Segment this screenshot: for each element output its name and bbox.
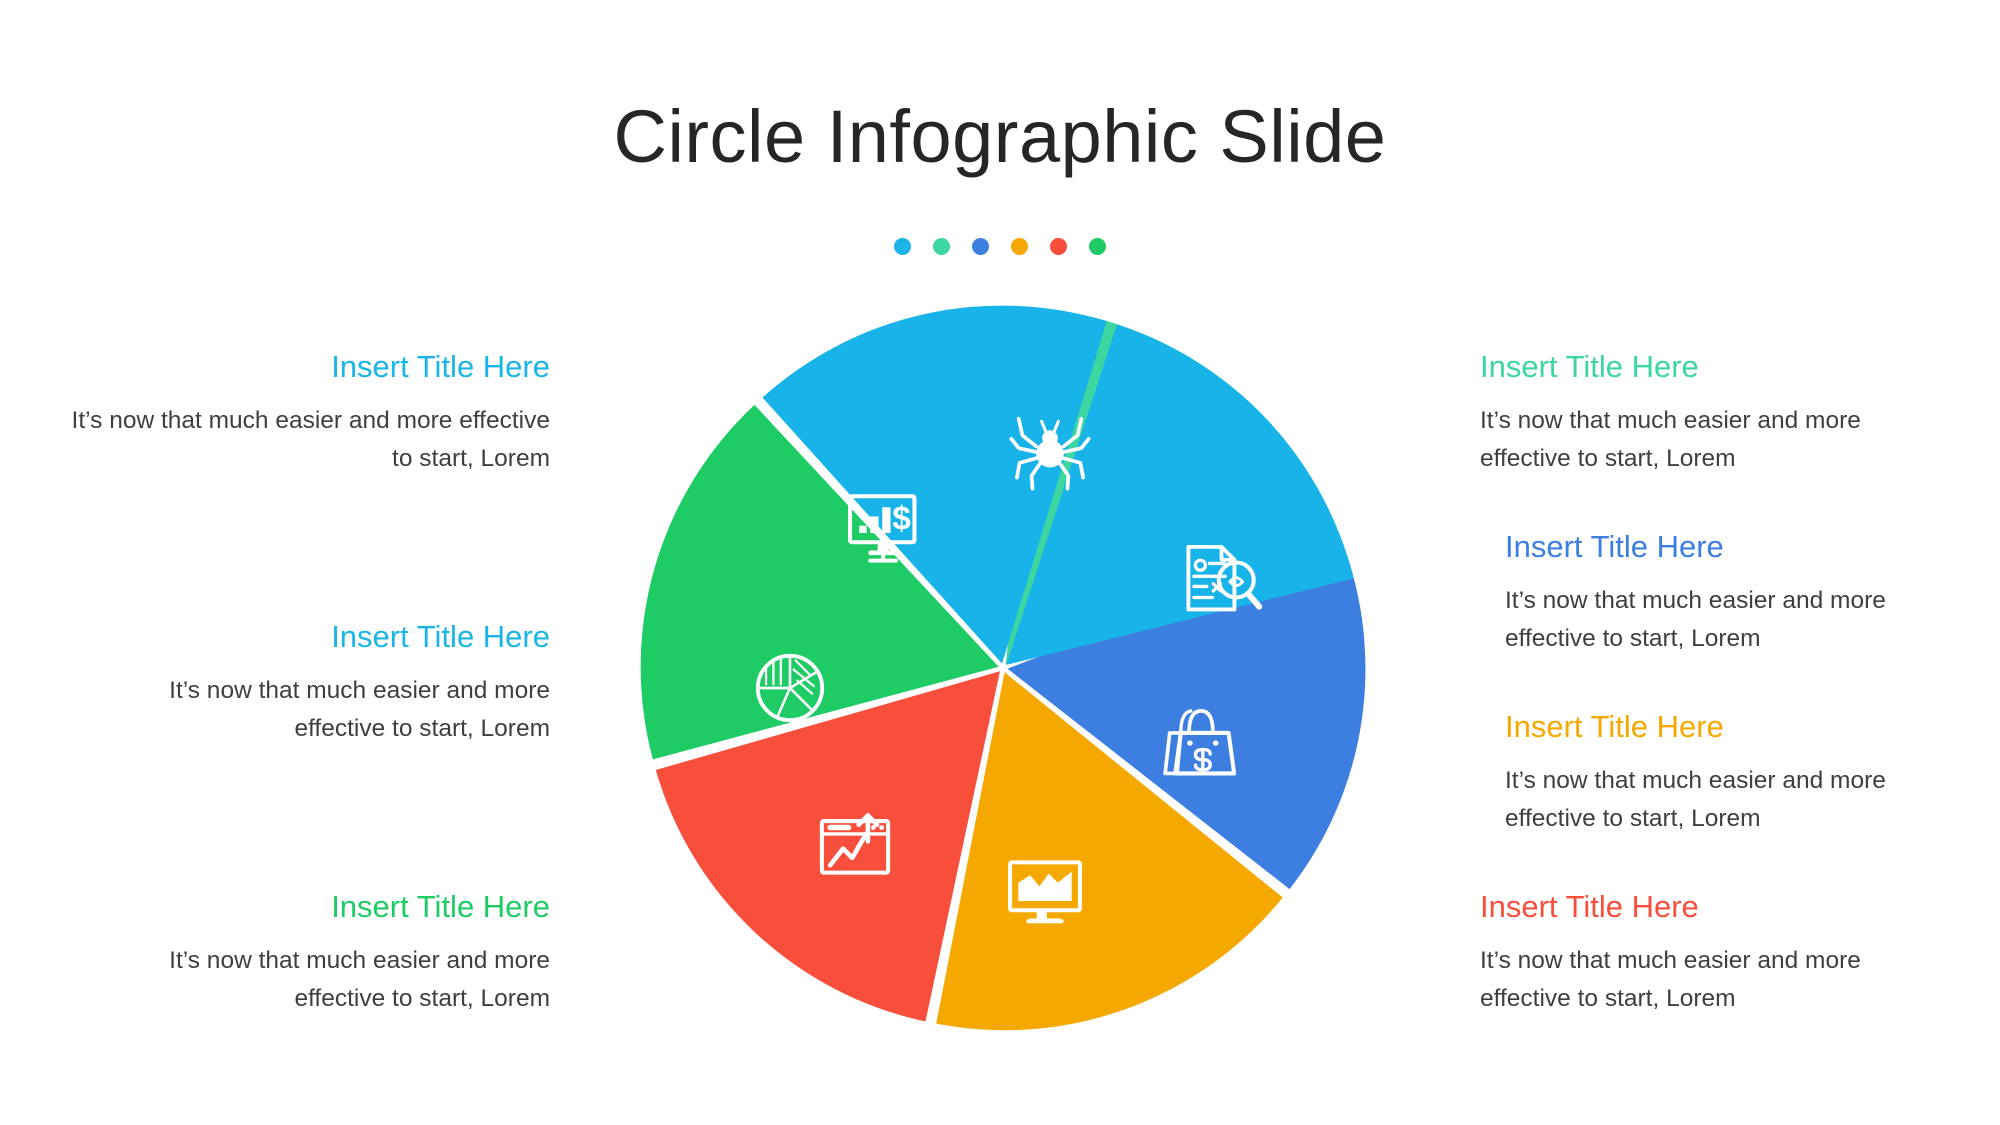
svg-text:$: $ [892, 500, 910, 537]
text-block-left-1: Insert Title Here It’s now that much eas… [60, 348, 550, 478]
pie-chart-svg: $ [623, 300, 1383, 1040]
dot-blue [972, 238, 989, 255]
text-block-right-4: Insert Title Here It’s now that much eas… [1480, 888, 1930, 1018]
page-title: Circle Infographic Slide [0, 96, 2000, 177]
block-body: It’s now that much easier and more effec… [60, 402, 550, 478]
block-title: Insert Title Here [1480, 888, 1930, 925]
text-block-right-1: Insert Title Here It’s now that much eas… [1480, 348, 1950, 478]
block-title: Insert Title Here [130, 888, 550, 925]
text-block-right-2: Insert Title Here It’s now that much eas… [1505, 528, 1935, 658]
dot-red [1050, 238, 1067, 255]
block-title: Insert Title Here [1480, 348, 1950, 385]
dot-cyan [894, 238, 911, 255]
block-body: It’s now that much easier and more effec… [1480, 942, 1930, 1018]
block-title: Insert Title Here [60, 348, 550, 385]
dot-amber [1011, 238, 1028, 255]
block-title: Insert Title Here [1505, 708, 1935, 745]
block-body: It’s now that much easier and more effec… [130, 942, 550, 1018]
block-title: Insert Title Here [100, 618, 550, 655]
text-block-left-2: Insert Title Here It’s now that much eas… [100, 618, 550, 748]
slide-root: Circle Infographic Slide [0, 0, 2000, 1125]
dot-teal [933, 238, 950, 255]
block-body: It’s now that much easier and more effec… [1505, 762, 1935, 838]
dot-row [0, 238, 2000, 255]
block-body: It’s now that much easier and more effec… [1480, 402, 1950, 478]
block-title: Insert Title Here [1505, 528, 1935, 565]
pie-chart: $ [623, 300, 1383, 1040]
dot-green [1089, 238, 1106, 255]
block-body: It’s now that much easier and more effec… [1505, 582, 1935, 658]
block-body: It’s now that much easier and more effec… [100, 672, 550, 748]
text-block-left-3: Insert Title Here It’s now that much eas… [130, 888, 550, 1018]
text-block-right-3: Insert Title Here It’s now that much eas… [1505, 708, 1935, 838]
